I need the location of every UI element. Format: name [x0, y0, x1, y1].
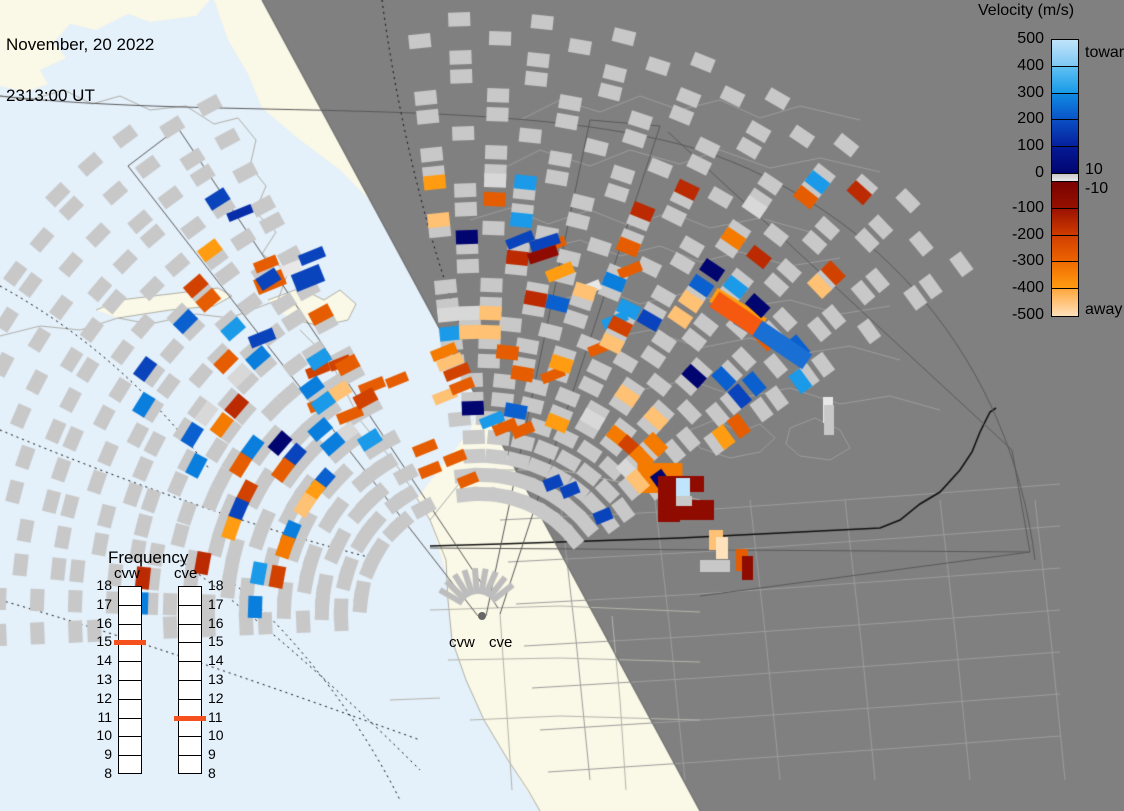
timestamp-date: November, 20 2022 — [6, 36, 154, 53]
frequency-tick-label: 9 — [90, 746, 112, 762]
colorbar-segment — [1052, 94, 1078, 121]
frequency-cell — [179, 606, 201, 625]
colorbar-tick-label: 200 — [984, 110, 1044, 128]
frequency-tick-label: 14 — [90, 652, 112, 668]
colorbar-tick-label: 100 — [984, 137, 1044, 155]
colorbar-tick-label: 500 — [984, 30, 1044, 48]
radar-site-label-cvw: cvw — [449, 634, 475, 651]
colorbar-away-label: away — [1085, 301, 1122, 319]
frequency-cell — [179, 737, 201, 756]
colorbar-segment — [1052, 147, 1078, 174]
frequency-tick-label: 9 — [208, 746, 230, 762]
frequency-tick-label: 10 — [208, 727, 230, 743]
frequency-cell — [179, 756, 201, 775]
colorbar-segment — [1052, 40, 1078, 67]
frequency-tick-label: 14 — [208, 652, 230, 668]
frequency-tick-label: 16 — [90, 615, 112, 631]
colorbar-segment — [1052, 67, 1078, 94]
colorbar-tick-label: 400 — [984, 57, 1044, 75]
frequency-radar-name: cve — [174, 565, 197, 582]
frequency-tick-label: 17 — [208, 596, 230, 612]
frequency-bar-cvw[interactable] — [118, 586, 142, 774]
frequency-cell — [179, 662, 201, 681]
colorbar-upper-threshold-label: 10 — [1085, 161, 1103, 179]
colorbar-tick-label: -200 — [984, 226, 1044, 244]
frequency-tick-label: 11 — [208, 709, 230, 725]
frequency-tick-label: 12 — [208, 690, 230, 706]
frequency-tick-label: 8 — [90, 765, 112, 781]
colorbar-segment — [1052, 289, 1078, 316]
frequency-tick-label: 18 — [208, 577, 230, 593]
colorbar-title: Velocity (m/s) — [978, 2, 1074, 20]
timestamp: November, 20 2022 2313:00 UT — [6, 2, 154, 138]
frequency-cell — [119, 719, 141, 738]
colorbar-segment — [1052, 209, 1078, 236]
frequency-cell — [119, 700, 141, 719]
colorbar-tick-label: -100 — [984, 199, 1044, 217]
frequency-tick-label: 12 — [90, 690, 112, 706]
colorbar-segment — [1052, 182, 1078, 209]
frequency-tick-label: 8 — [208, 765, 230, 781]
frequency-tick-label: 15 — [90, 633, 112, 649]
frequency-tick-label: 18 — [90, 577, 112, 593]
frequency-tick-label: 16 — [208, 615, 230, 631]
frequency-tick-label: 11 — [90, 709, 112, 725]
colorbar-lower-threshold-label: -10 — [1085, 180, 1108, 198]
colorbar-tick-label: -400 — [984, 279, 1044, 297]
frequency-cell — [119, 681, 141, 700]
colorbar-segment — [1052, 236, 1078, 263]
colorbar-tick-label: 0 — [984, 164, 1044, 182]
radar-site-label-cve: cve — [489, 634, 512, 651]
frequency-cell — [179, 625, 201, 644]
frequency-marker-cve — [174, 716, 206, 721]
frequency-cell — [179, 587, 201, 606]
velocity-colorbar[interactable] — [1051, 39, 1079, 317]
frequency-cell — [119, 756, 141, 775]
frequency-bar-cve[interactable] — [178, 586, 202, 774]
frequency-cell — [119, 662, 141, 681]
frequency-cell — [179, 719, 201, 738]
colorbar-tick-label: 300 — [984, 84, 1044, 102]
radar-site-marker — [478, 612, 486, 620]
frequency-tick-label: 17 — [90, 596, 112, 612]
map-canvas[interactable] — [0, 0, 1124, 811]
frequency-cell — [179, 643, 201, 662]
frequency-cell — [119, 643, 141, 662]
frequency-cell — [119, 737, 141, 756]
frequency-marker-cvw — [114, 640, 146, 645]
frequency-tick-label: 10 — [90, 727, 112, 743]
timestamp-time: 2313:00 UT — [6, 87, 154, 104]
frequency-tick-label: 15 — [208, 633, 230, 649]
colorbar-tick-label: -500 — [984, 306, 1044, 324]
frequency-cell — [119, 587, 141, 606]
frequency-cell — [179, 681, 201, 700]
colorbar-tick-label: -300 — [984, 252, 1044, 270]
colorbar-segment — [1052, 120, 1078, 147]
frequency-radar-name: cvw — [114, 565, 140, 582]
frequency-cell — [119, 606, 141, 625]
frequency-tick-label: 13 — [208, 671, 230, 687]
colorbar-toward-label: toward — [1085, 44, 1124, 62]
superdarn-fan-plot: November, 20 2022 2313:00 UT Velocity (m… — [0, 0, 1124, 811]
colorbar-segment — [1052, 174, 1078, 182]
frequency-tick-label: 13 — [90, 671, 112, 687]
colorbar-segment — [1052, 262, 1078, 289]
